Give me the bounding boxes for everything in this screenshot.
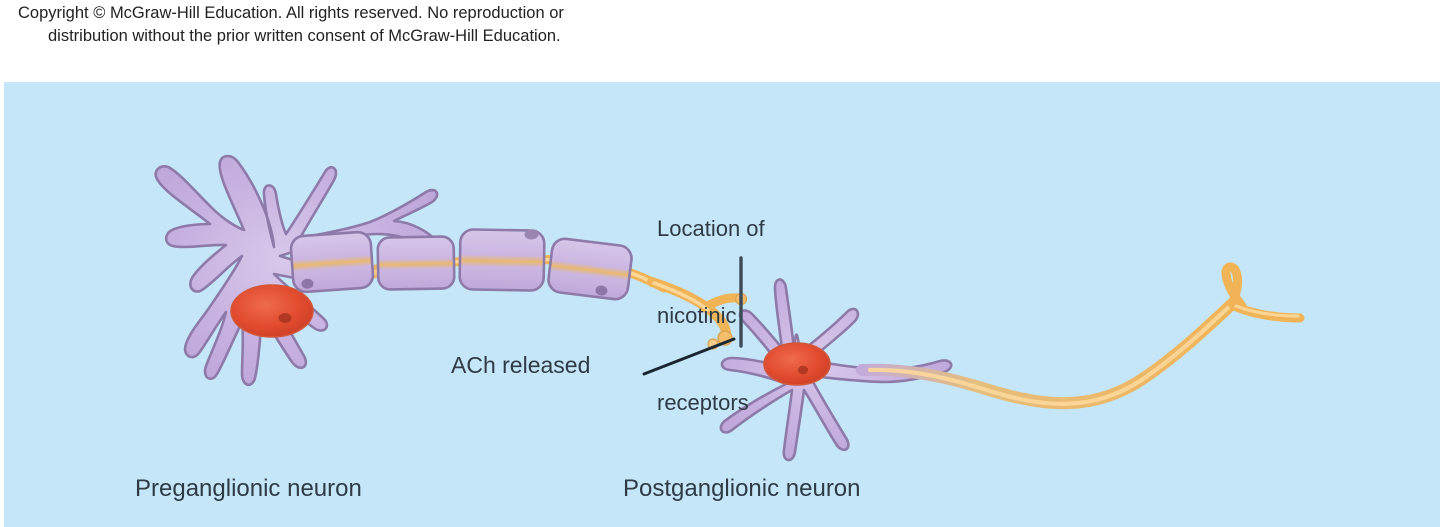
copyright-line-2: distribution without the prior written c… [0,25,1440,48]
postganglionic-nucleus [764,343,830,385]
terminal-branch-lower [652,282,726,334]
copyright-line-1: Copyright © McGraw-Hill Education. All r… [0,2,1440,25]
postganglionic-terminal-branches [1226,267,1300,318]
myelin-segment [378,236,455,289]
preganglionic-nucleus [231,285,313,337]
terminal-branch-upper [704,298,737,308]
myelin-sheath-schwann-cells [290,229,633,300]
neuron-synapse-illustration [4,82,1440,527]
myelin-segment [459,229,544,290]
myelin-segment [290,231,374,292]
myelinated-axon [290,229,664,300]
figure-root: Copyright © McGraw-Hill Education. All r… [0,0,1440,527]
copyright-notice: Copyright © McGraw-Hill Education. All r… [0,0,1440,82]
illustration-panel: Location of nicotinic receptors ACh rele… [4,82,1440,527]
postganglionic-nucleolus [798,366,808,374]
preganglionic-nucleolus [279,313,292,323]
leader-line-ach [644,339,734,374]
postganglionic-axon-highlight [870,305,1231,404]
postganglionic-neuron [721,267,1300,460]
myelin-segment [547,237,633,300]
